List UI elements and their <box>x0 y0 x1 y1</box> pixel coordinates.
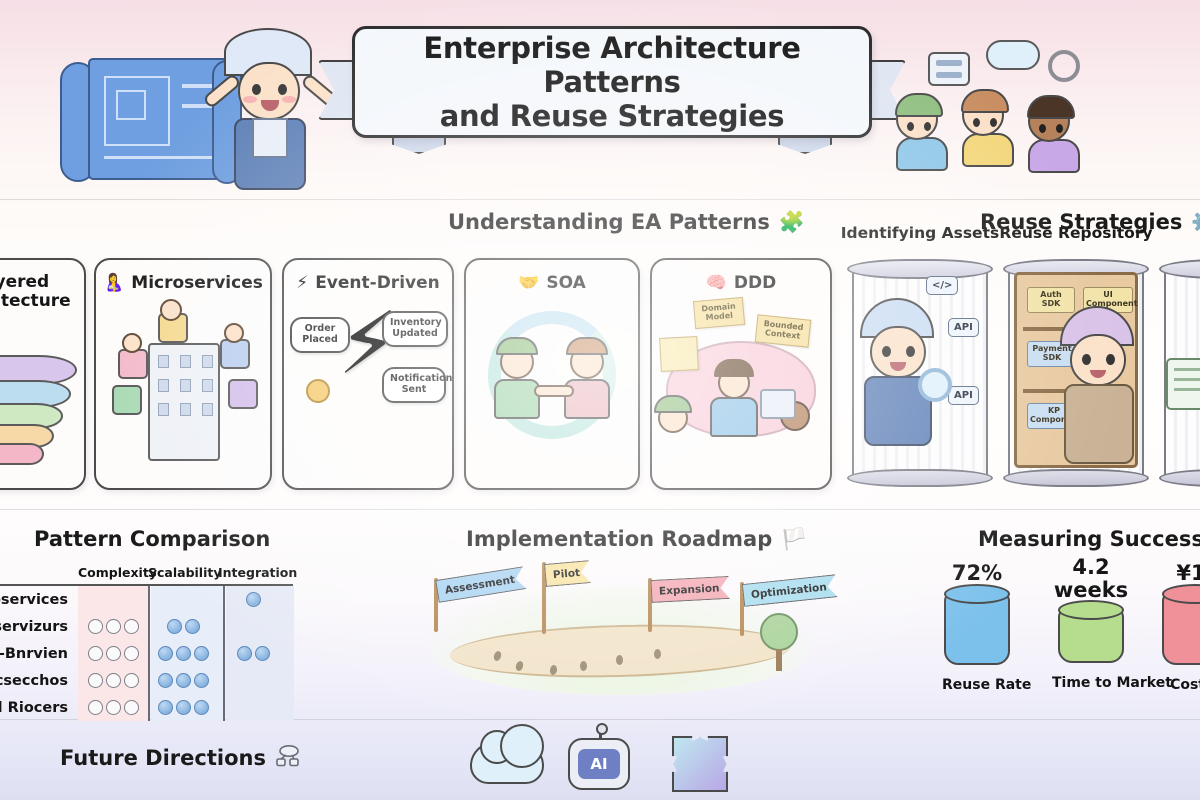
row-label: el Riocers <box>0 700 78 716</box>
person-3-head <box>1028 100 1070 142</box>
table-row: oservizurs <box>0 613 293 640</box>
event-bubble-order-placed: Order Placed <box>290 317 350 353</box>
api-tag-1: API <box>948 318 979 337</box>
layered-cake-illustration <box>0 311 84 481</box>
title-ribbon: Enterprise Architecture Patterns and Reu… <box>352 26 872 138</box>
row-label: oservices <box>0 592 78 608</box>
pattern-card-event-driven-header: ⚡ Event-Driven <box>284 260 452 293</box>
row-label: nt-Bnrvien <box>0 646 78 662</box>
pattern-card-ddd-title: DDD <box>734 273 776 293</box>
flag-icon: 🏳️ <box>781 529 807 550</box>
person-1-hair <box>895 93 943 117</box>
page-title-line1: Enterprise Architecture Patterns <box>355 31 869 99</box>
reuse-pillar-identifying-assets[interactable]: Identifying Assets </> API API <box>852 258 988 490</box>
cell-complexity <box>78 673 148 688</box>
flag-label-expansion: Expansion <box>650 576 730 603</box>
section-heading-patterns: Understanding EA Patterns 🧩 <box>448 210 805 234</box>
future-icon-puzzle[interactable] <box>672 736 728 792</box>
reuse-pillar-reuse-repository[interactable]: Reuse Repository Auth SDK UI Component P… <box>1008 258 1144 490</box>
person-2-body <box>962 133 1014 167</box>
brain-icon: 🧠 <box>706 273 727 293</box>
handshake-icon: 🤝 <box>518 273 539 293</box>
server-icon <box>928 52 970 86</box>
flag-label-pilot: Pilot <box>544 560 591 587</box>
metric-value-time-to-market-line1: 4.2 <box>1052 556 1130 579</box>
cloud-chip-icon <box>986 40 1040 70</box>
metric-jar-reuse-rate <box>944 591 1010 665</box>
metric-value-reuse-rate: 72% <box>942 562 1012 585</box>
person-2 <box>962 94 1014 167</box>
divider-top <box>0 199 1200 200</box>
cell-complexity <box>78 646 148 661</box>
section-comparison-label: Pattern Comparison <box>34 527 270 551</box>
row-label: csecchos <box>0 673 78 689</box>
row-label: oservizurs <box>0 619 78 635</box>
pattern-card-layered-header: Layered Architecture <box>0 260 84 311</box>
cloud-icon <box>470 742 544 784</box>
pattern-card-ddd-header: 🧠 DDD <box>652 260 830 293</box>
network-cloud-svg <box>275 745 301 767</box>
pillar-label-identifying-assets: Identifying Assets <box>841 224 999 242</box>
pattern-card-soa[interactable]: 🤝 SOA <box>464 258 640 490</box>
metric-value-cost-savings: ¥1. <box>1160 562 1200 585</box>
cell-scalability <box>148 619 218 634</box>
page-title-line2: and Reuse Strategies <box>355 99 869 133</box>
section-roadmap-label: Implementation Roadmap <box>466 527 772 551</box>
person-1-head <box>896 98 938 140</box>
pattern-card-microservices-title: Microservices <box>131 273 263 293</box>
table-header-row: Complexity Scalability Integration <box>0 560 293 586</box>
person-2-hair <box>961 89 1009 113</box>
api-tag-2: API <box>948 386 979 405</box>
divider-middle <box>0 509 1200 510</box>
metric-value-time-to-market-line2: weeks <box>1052 579 1130 602</box>
gear-icon: ⚙️ <box>1191 212 1200 233</box>
pattern-card-soa-header: 🤝 SOA <box>466 260 638 293</box>
person-3-hair <box>1027 95 1075 119</box>
cell-scalability <box>148 673 218 688</box>
lightning-bolt-icon: ⚡ <box>296 273 308 293</box>
section-future-label: Future Directions <box>60 746 266 770</box>
section-measuring-label: Measuring Success <box>978 527 1200 551</box>
puzzle-piece-icon <box>672 736 728 792</box>
column-header-integration: Integration <box>218 565 288 580</box>
person-1-body <box>896 137 948 171</box>
reuse-pillar-standardization[interactable]: Stan <box>1164 258 1200 490</box>
cell-complexity <box>78 700 148 715</box>
cell-integration <box>218 646 288 661</box>
soa-illustration <box>466 293 638 463</box>
microservices-icon: 🤱 <box>103 273 124 293</box>
code-tag: </> <box>926 276 958 295</box>
cell-scalability <box>148 646 218 661</box>
event-driven-illustration: ⚡ Order Placed Inventory Updated Notific… <box>284 293 452 463</box>
tree-illustration <box>760 613 798 671</box>
cell-complexity <box>78 619 148 634</box>
section-heading-roadmap: Implementation Roadmap 🏳️ <box>466 527 807 551</box>
flag-label-optimization: Optimization <box>742 574 838 607</box>
ai-robot-label: AI <box>578 749 620 779</box>
metric-time-to-market: 4.2 weeks Time to Market <box>1052 556 1130 691</box>
shelf-label-auth-sdk: Auth SDK <box>1027 287 1075 313</box>
microservices-illustration <box>96 293 270 463</box>
pattern-card-event-driven[interactable]: ⚡ Event-Driven ⚡ Order Placed Inventory … <box>282 258 454 490</box>
gear-chip-icon <box>1048 50 1080 82</box>
table-row: csecchos <box>0 667 293 694</box>
pattern-card-soa-title: SOA <box>546 273 585 293</box>
pattern-card-microservices[interactable]: 🤱 Microservices <box>94 258 272 490</box>
sticky-note-bounded-context: Bounded Context <box>755 314 812 347</box>
future-icon-ai[interactable]: AI <box>568 738 630 790</box>
network-cloud-icon <box>275 745 301 771</box>
metric-label-time-to-market: Time to Market <box>1052 675 1130 691</box>
smiley-face-icon <box>306 379 330 403</box>
event-bubble-inventory-updated: Inventory Updated <box>382 311 448 347</box>
puzzle-piece-icon: 🧩 <box>779 212 805 233</box>
pillar-column-1 <box>852 266 988 480</box>
pattern-card-ddd[interactable]: 🧠 DDD Domain Model Bounded Context <box>650 258 832 490</box>
pattern-card-event-driven-title: Event-Driven <box>315 273 440 293</box>
section-heading-future: Future Directions <box>60 745 301 771</box>
ribbon-body: Enterprise Architecture Patterns and Reu… <box>352 26 872 138</box>
pattern-card-layered-title1: Layered <box>0 273 49 292</box>
metric-jar-time-to-market <box>1058 607 1124 663</box>
metric-reuse-rate: 72% Reuse Rate <box>942 562 1012 693</box>
event-bubble-notification-sent: Notification Sent <box>382 367 446 403</box>
pillar-label-reuse-repository: Reuse Repository <box>999 224 1152 242</box>
person-3 <box>1028 100 1080 173</box>
sticky-note-blank <box>659 336 699 372</box>
section-heading-measuring: Measuring Success ✅ <box>978 527 1200 551</box>
column-header-scalability: Scalability <box>148 565 218 580</box>
metric-jar-cost-savings <box>1162 591 1200 665</box>
sticky-note-domain-model: Domain Model <box>693 297 745 329</box>
ddd-illustration: Domain Model Bounded Context <box>652 293 830 463</box>
metric-cost-savings: ¥1. Cost S <box>1160 562 1200 693</box>
person-1 <box>896 98 948 171</box>
cell-integration <box>218 592 288 607</box>
person-3-body <box>1028 139 1080 173</box>
magnifier-icon <box>918 368 952 402</box>
pattern-comparison-table: Complexity Scalability Integration oserv… <box>0 560 293 721</box>
pattern-card-layered-title2: Architecture <box>0 292 71 311</box>
infographic-canvas: Enterprise Architecture Patterns and Reu… <box>0 0 1200 800</box>
robot-antenna <box>599 728 602 740</box>
person-2-head <box>962 94 1004 136</box>
column-header-complexity: Complexity <box>78 565 148 580</box>
pattern-card-layered-architecture[interactable]: Layered Architecture <box>0 258 86 490</box>
table-row: el Riocers <box>0 694 293 721</box>
metric-label-cost-savings: Cost S <box>1160 677 1200 693</box>
cell-scalability <box>148 700 218 715</box>
page-title: Enterprise Architecture Patterns and Reu… <box>355 31 869 134</box>
table-row: nt-Bnrvien <box>0 640 293 667</box>
section-heading-comparison: Pattern Comparison <box>34 527 270 551</box>
ai-robot-icon: AI <box>568 738 630 790</box>
checklist-icon <box>1166 358 1200 410</box>
pattern-card-microservices-header: 🤱 Microservices <box>96 260 270 293</box>
section-patterns-label: Understanding EA Patterns <box>448 210 770 234</box>
table-row: oservices <box>0 586 293 613</box>
metric-label-reuse-rate: Reuse Rate <box>942 677 1012 693</box>
future-icon-cloud[interactable] <box>470 742 544 784</box>
